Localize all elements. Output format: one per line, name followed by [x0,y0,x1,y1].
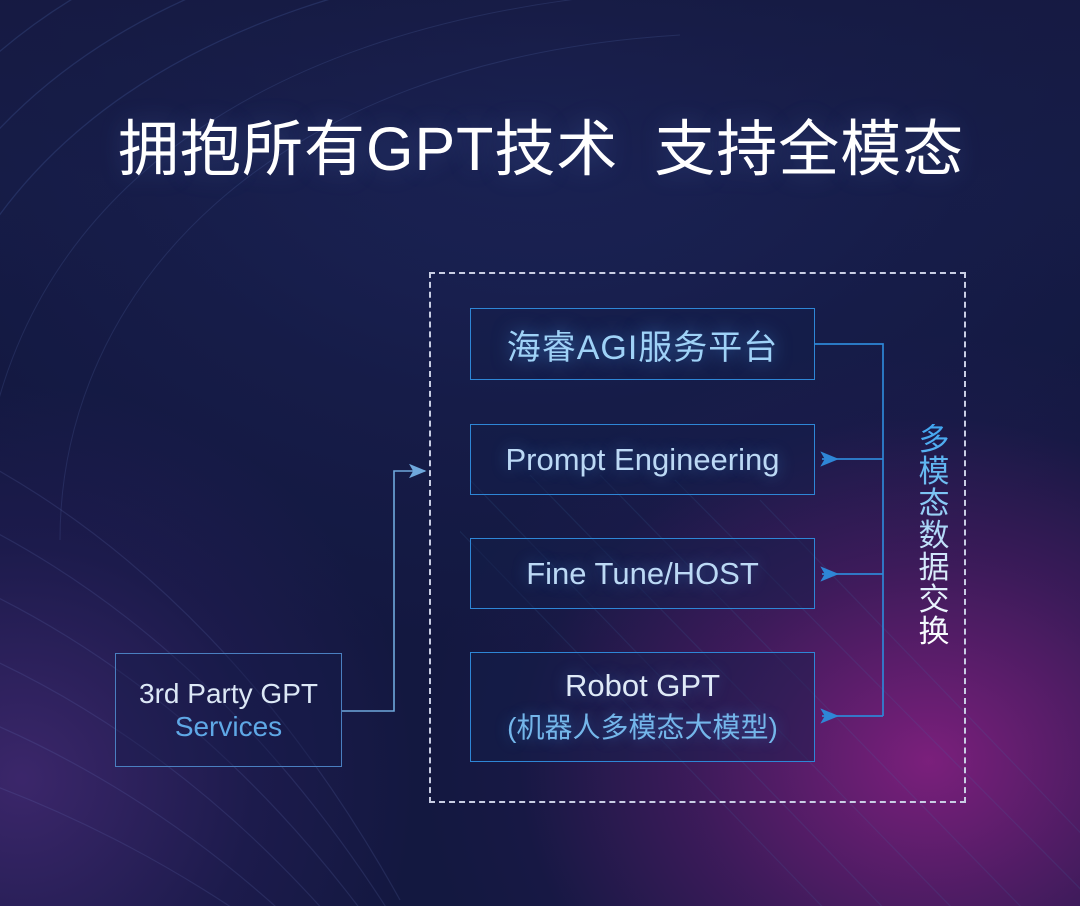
node-prompt-engineering-label: Prompt Engineering [506,442,780,478]
node-robot-gpt-label: Robot GPT [565,668,720,704]
exchange-caption-vertical: 多模态数据交换 [912,424,956,647]
slide-title: 拥抱所有GPT技术 支持全模态 [118,114,964,184]
exchange-caption-char-0: 多 [912,424,956,456]
node-third-party-label: 3rd Party GPT [139,678,318,710]
exchange-caption-char-3: 数 [912,520,956,552]
node-fine-tune-host-label: Fine Tune/HOST [526,556,759,592]
exchange-caption-char-5: 交 [912,584,956,616]
node-agi-platform-label: 海睿AGI服务平台 [507,320,779,369]
node-robot-gpt[interactable]: Robot GPT (机器人多模态大模型) [470,652,815,762]
exchange-caption-char-2: 态 [912,488,956,520]
exchange-caption-char-4: 据 [912,552,956,584]
exchange-caption-char-6: 换 [912,616,956,648]
exchange-caption-char-1: 模 [912,456,956,488]
node-third-party-gpt-services[interactable]: 3rd Party GPT Services [115,653,342,767]
node-robot-gpt-sublabel: (机器人多模态大模型) [507,706,778,746]
slide-canvas: 拥抱所有GPT技术 支持全模态 海睿AGI服务平台 [0,0,1080,906]
node-agi-platform[interactable]: 海睿AGI服务平台 [470,308,815,380]
node-prompt-engineering[interactable]: Prompt Engineering [470,424,815,495]
node-fine-tune-host[interactable]: Fine Tune/HOST [470,538,815,609]
node-third-party-sublabel: Services [175,711,282,743]
